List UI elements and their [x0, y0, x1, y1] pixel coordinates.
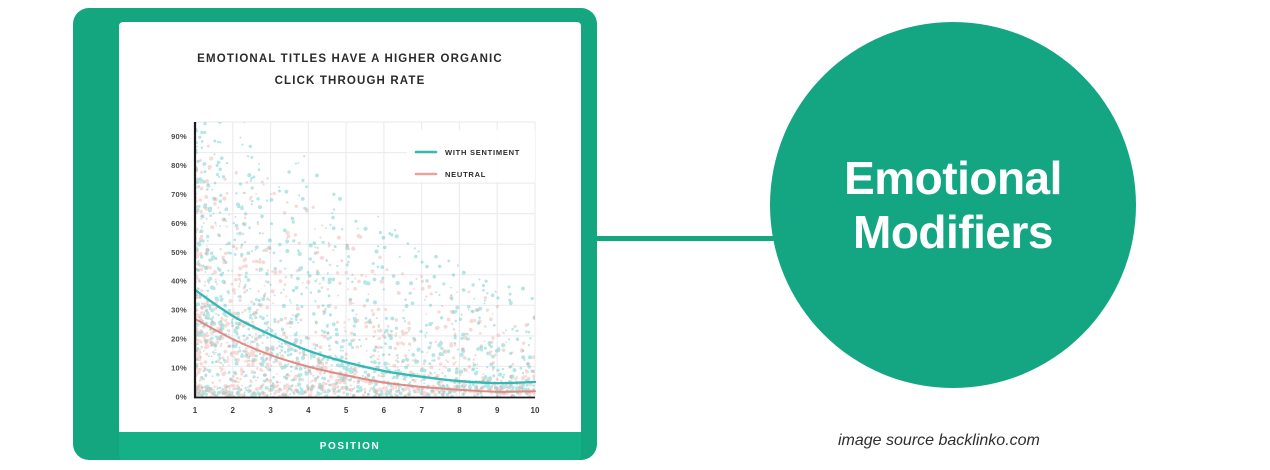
scatter-point: [227, 270, 229, 272]
scatter-point: [316, 364, 320, 368]
scatter-point: [502, 332, 505, 335]
scatter-point: [380, 265, 384, 269]
scatter-point: [457, 349, 459, 351]
scatter-point: [421, 261, 424, 264]
scatter-point: [202, 265, 205, 268]
scatter-point: [241, 144, 243, 146]
scatter-point: [205, 352, 208, 355]
scatter-point: [219, 379, 222, 382]
scatter-point: [244, 264, 248, 268]
scatter-point: [222, 337, 225, 340]
scatter-point: [314, 347, 316, 349]
scatter-point: [440, 340, 442, 342]
scatter-point: [438, 294, 440, 296]
scatter-point: [452, 273, 455, 276]
scatter-point: [405, 357, 407, 359]
scatter-point: [238, 266, 242, 270]
scatter-point: [521, 355, 525, 359]
chart-legend: WITH SENTIMENT NEUTRAL: [407, 130, 535, 182]
y-axis-tick-labels: 0%10%20%30%40%50%60%70%80%90%: [171, 132, 187, 402]
scatter-point: [267, 326, 270, 329]
scatter-point: [327, 272, 329, 274]
scatter-point: [204, 281, 206, 283]
scatter-point: [430, 292, 433, 295]
scatter-point: [197, 187, 199, 189]
scatter-point: [334, 306, 337, 309]
scatter-point: [224, 392, 228, 396]
scatter-point: [233, 350, 237, 354]
scatter-point: [316, 357, 320, 361]
scatter-point: [496, 389, 499, 392]
scatter-point: [296, 331, 298, 333]
scatter-point: [423, 382, 425, 384]
scatter-point: [231, 321, 233, 323]
scatter-point: [268, 299, 270, 301]
scatter-point: [221, 318, 224, 321]
scatter-point: [391, 387, 395, 391]
scatter-point: [214, 257, 217, 260]
scatter-point: [297, 162, 299, 164]
scatter-point: [246, 251, 250, 255]
scatter-point: [265, 306, 269, 310]
scatter-point: [217, 161, 221, 165]
y-axis-tick: 30%: [171, 306, 187, 315]
scatter-point: [314, 380, 317, 383]
scatter-point: [373, 349, 377, 353]
scatter-point: [449, 295, 453, 299]
scatter-point: [235, 192, 237, 194]
scatter-point: [365, 275, 367, 277]
scatter-point: [283, 288, 285, 290]
scatter-point: [356, 390, 359, 393]
scatter-point: [202, 378, 205, 381]
scatter-point: [197, 354, 201, 358]
x-axis-tick: 1: [193, 406, 198, 415]
scatter-point: [250, 179, 252, 181]
scatter-point: [259, 304, 262, 307]
scatter-point: [377, 351, 379, 353]
scatter-point: [478, 319, 482, 323]
scatter-point: [476, 309, 479, 312]
scatter-point: [274, 267, 277, 270]
scatter-point: [232, 318, 234, 320]
scatter-point: [231, 379, 235, 383]
scatter-point: [434, 393, 438, 397]
scatter-point: [353, 324, 356, 327]
scatter-point: [462, 271, 466, 275]
scatter-point: [532, 316, 536, 320]
scatter-point: [417, 348, 421, 352]
scatter-point: [201, 215, 204, 218]
scatter-point: [199, 280, 201, 282]
scatter-point: [351, 273, 354, 276]
y-axis-tick: 50%: [171, 248, 187, 257]
scatter-point: [512, 368, 516, 372]
scatter-point: [327, 288, 330, 291]
x-axis-title-bar: POSITION: [119, 432, 581, 460]
scatter-point: [363, 304, 366, 307]
scatter-point: [346, 393, 349, 396]
scatter-point: [250, 349, 253, 352]
scatter-point: [345, 244, 349, 248]
scatter-point: [199, 362, 203, 366]
scatter-point: [441, 392, 444, 395]
scatter-point: [376, 358, 379, 361]
scatter-point: [219, 324, 222, 327]
scatter-point: [250, 381, 253, 384]
scatter-point: [373, 360, 377, 364]
scatter-point: [438, 390, 441, 393]
scatter-point: [215, 394, 217, 396]
scatter-point: [256, 197, 259, 200]
scatter-point: [214, 307, 217, 310]
scatter-point: [357, 280, 361, 284]
scatter-point: [285, 384, 287, 386]
scatter-point: [240, 207, 244, 211]
scatter-point: [323, 335, 327, 339]
scatter-point: [385, 268, 388, 271]
scatter-point: [415, 278, 417, 280]
scatter-point: [465, 391, 467, 393]
scatter-point: [491, 336, 494, 339]
scatter-point: [413, 288, 415, 290]
scatter-point: [198, 136, 201, 139]
scatter-point: [203, 366, 205, 368]
scatter-point: [280, 291, 283, 294]
scatter-point: [214, 197, 218, 201]
scatter-point: [339, 364, 342, 367]
scatter-point: [371, 309, 374, 312]
scatter-point: [220, 343, 222, 345]
chart-card-inner: EMOTIONAL TITLES HAVE A HIGHER ORGANIC C…: [119, 22, 581, 432]
scatter-point: [219, 295, 222, 298]
scatter-point: [196, 146, 198, 148]
scatter-point: [390, 330, 393, 333]
scatter-point: [379, 394, 381, 396]
scatter-point: [200, 268, 204, 272]
scatter-point: [297, 322, 299, 324]
scatter-point: [467, 290, 470, 293]
scatter-point: [480, 348, 483, 351]
scatter-point: [295, 318, 298, 321]
scatter-point: [200, 171, 203, 174]
scatter-point: [255, 298, 258, 301]
scatter-point: [401, 332, 405, 336]
scatter-point: [364, 370, 367, 373]
scatter-point: [289, 320, 292, 323]
scatter-point: [209, 306, 212, 309]
scatter-point: [203, 122, 206, 125]
scatter-point: [342, 391, 345, 394]
scatter-point: [266, 199, 268, 201]
scatter-point: [233, 222, 235, 224]
scatter-point: [198, 160, 200, 162]
scatter-point: [433, 359, 436, 362]
scatter-point: [478, 316, 481, 319]
scatter-point: [465, 384, 467, 386]
scatter-point: [219, 141, 221, 143]
scatter-point: [461, 288, 463, 290]
scatter-point: [327, 392, 329, 394]
scatter-point: [405, 304, 409, 308]
scatter-point: [220, 368, 223, 371]
infographic-root: CTR EMOTIONAL TITLES HAVE A HIGHER ORGAN…: [0, 0, 1270, 470]
scatter-point: [251, 302, 253, 304]
scatter-point: [322, 310, 325, 313]
scatter-point: [454, 336, 457, 339]
scatter-point: [379, 231, 382, 234]
scatter-point: [226, 162, 228, 164]
scatter-point: [278, 341, 280, 343]
scatter-point: [474, 354, 476, 356]
scatter-point: [233, 356, 235, 358]
scatter-point: [292, 314, 294, 316]
scatter-point: [245, 347, 248, 350]
scatter-point: [203, 302, 206, 305]
scatter-point: [405, 331, 408, 334]
scatter-point: [243, 291, 246, 294]
scatter-point: [198, 333, 200, 335]
scatter-point: [529, 337, 531, 339]
scatter-point: [200, 182, 202, 184]
scatter-point: [205, 342, 208, 345]
scatter-point: [243, 259, 246, 262]
scatter-point: [357, 227, 359, 229]
scatter-point: [378, 374, 381, 377]
scatter-point: [431, 322, 433, 324]
scatter-point: [526, 384, 529, 387]
scatter-point: [333, 391, 337, 395]
scatter-point: [197, 207, 200, 210]
scatter-point: [336, 321, 339, 324]
scatter-point: [252, 391, 256, 395]
scatter-point: [228, 390, 231, 393]
scatter-point: [211, 189, 213, 191]
scatter-point: [437, 326, 440, 329]
scatter-point: [213, 353, 215, 355]
scatter-point: [200, 187, 204, 191]
scatter-point: [279, 279, 283, 283]
scatter-point: [220, 345, 222, 347]
scatter-point: [247, 307, 251, 311]
scatter-point: [316, 376, 319, 379]
scatter-point: [263, 183, 265, 185]
scatter-point: [305, 209, 309, 213]
scatter-point: [357, 346, 359, 348]
scatter-point: [446, 360, 449, 363]
scatter-point: [460, 353, 464, 357]
scatter-point: [236, 384, 239, 387]
scatter-point: [207, 188, 209, 190]
scatter-point: [423, 359, 426, 362]
scatter-point: [291, 365, 294, 368]
scatter-point: [212, 351, 214, 353]
scatter-point: [345, 353, 348, 356]
scatter-point: [354, 387, 356, 389]
scatter-point: [267, 394, 269, 396]
scatter-point: [352, 338, 355, 341]
scatter-point: [244, 241, 246, 243]
scatter-point: [455, 305, 459, 309]
scatter-point: [321, 377, 324, 380]
scatter-point: [290, 302, 292, 304]
scatter-point: [304, 390, 308, 394]
scatter-point: [496, 296, 499, 299]
scatter-point: [484, 347, 487, 350]
scatter-point: [199, 348, 201, 350]
scatter-point: [243, 287, 246, 290]
scatter-point: [235, 391, 239, 395]
scatter-point: [396, 394, 398, 396]
scatter-point: [226, 225, 228, 227]
scatter-point: [383, 362, 387, 366]
y-axis-tick: 40%: [171, 277, 187, 286]
scatter-point: [498, 346, 500, 348]
scatter-point: [502, 389, 504, 391]
scatter-point: [336, 391, 338, 393]
scatter-point: [472, 368, 474, 370]
scatter-point: [312, 312, 316, 316]
scatter-point: [337, 294, 339, 296]
scatter-point: [409, 391, 411, 393]
scatter-point: [298, 378, 301, 381]
scatter-point: [218, 167, 222, 171]
scatter-point: [257, 290, 259, 292]
scatter-point: [296, 269, 299, 272]
scatter-point: [511, 328, 514, 331]
scatter-point: [347, 278, 349, 280]
scatter-point: [249, 343, 251, 345]
scatter-point: [351, 281, 353, 283]
scatter-point: [255, 333, 257, 335]
scatter-point: [244, 387, 246, 389]
scatter-point: [259, 362, 262, 365]
scatter-point: [255, 379, 257, 381]
scatter-point: [255, 387, 259, 391]
scatter-point: [255, 193, 257, 195]
scatter-point: [492, 313, 494, 315]
scatter-point: [323, 364, 325, 366]
scatter-point: [491, 293, 495, 297]
scatter-point: [438, 352, 442, 356]
scatter-point: [240, 354, 244, 358]
scatter-point: [247, 173, 251, 177]
scatter-point: [273, 392, 276, 395]
scatter-point: [425, 279, 428, 282]
scatter-point: [301, 179, 304, 182]
scatter-point: [342, 350, 344, 352]
scatter-point: [382, 334, 386, 338]
scatter-point: [502, 368, 504, 370]
scatter-point: [219, 386, 222, 389]
scatter-point: [224, 319, 227, 322]
scatter-point: [231, 270, 233, 272]
scatter-point: [411, 353, 415, 357]
scatter-point: [274, 294, 276, 296]
scatter-point: [489, 317, 493, 321]
scatter-point: [213, 270, 217, 274]
scatter-point: [460, 313, 462, 315]
scatter-point: [205, 373, 207, 375]
scatter-point: [221, 272, 224, 275]
scatter-point: [352, 302, 354, 304]
scatter-point: [210, 225, 214, 229]
scatter-point: [229, 252, 232, 255]
scatter-point: [381, 372, 384, 375]
scatter-point: [408, 330, 410, 332]
scatter-point: [290, 217, 292, 219]
scatter-point: [388, 346, 392, 350]
scatter-point: [377, 266, 379, 268]
scatter-point: [252, 260, 255, 263]
scatter-point: [234, 278, 238, 282]
scatter-point: [482, 289, 485, 292]
scatter-point: [429, 304, 432, 307]
scatter-point: [238, 274, 241, 277]
scatter-point: [240, 393, 243, 396]
scatter-point: [228, 214, 230, 216]
scatter-point: [266, 177, 269, 180]
scatter-point: [212, 375, 214, 377]
scatter-point: [451, 323, 453, 325]
scatter-point: [233, 387, 236, 390]
x-axis-tick: 9: [495, 406, 500, 415]
scatter-point: [307, 387, 311, 391]
scatter-point: [254, 358, 258, 362]
scatter-point: [217, 314, 219, 316]
scatter-point: [387, 325, 390, 328]
scatter-point: [354, 220, 357, 223]
scatter-point: [295, 385, 297, 387]
scatter-point: [421, 350, 424, 353]
scatter-point: [450, 287, 452, 289]
scatter-point: [289, 299, 291, 301]
scatter-point: [470, 310, 473, 313]
scatter-point: [204, 305, 206, 307]
scatter-point: [213, 213, 215, 215]
scatter-point: [321, 286, 324, 289]
scatter-point: [196, 268, 199, 271]
scatter-point: [261, 232, 263, 234]
scatter-point: [340, 259, 343, 262]
scatter-point: [247, 278, 251, 282]
scatter-point: [331, 216, 335, 220]
scatter-point: [206, 235, 209, 238]
scatter-point: [454, 333, 457, 336]
scatter-point: [333, 324, 336, 327]
scatter-point: [436, 374, 440, 378]
scatter-point: [219, 248, 222, 251]
scatter-point: [375, 393, 378, 396]
scatter-point: [496, 378, 499, 381]
scatter-point: [378, 362, 381, 365]
scatter-point: [378, 255, 382, 259]
scatter-point: [324, 372, 326, 374]
scatter-point: [248, 353, 252, 357]
scatter-point: [328, 348, 331, 351]
scatter-point: [201, 140, 204, 143]
scatter-point: [435, 291, 437, 293]
scatter-point: [199, 198, 202, 201]
scatter-point: [199, 386, 201, 388]
scatter-point: [367, 393, 369, 395]
scatter-point: [233, 238, 236, 241]
scatter-point: [304, 370, 307, 373]
scatter-point: [514, 378, 516, 380]
scatter-point: [276, 389, 278, 391]
scatter-point: [264, 248, 268, 252]
scatter-point: [258, 386, 262, 390]
